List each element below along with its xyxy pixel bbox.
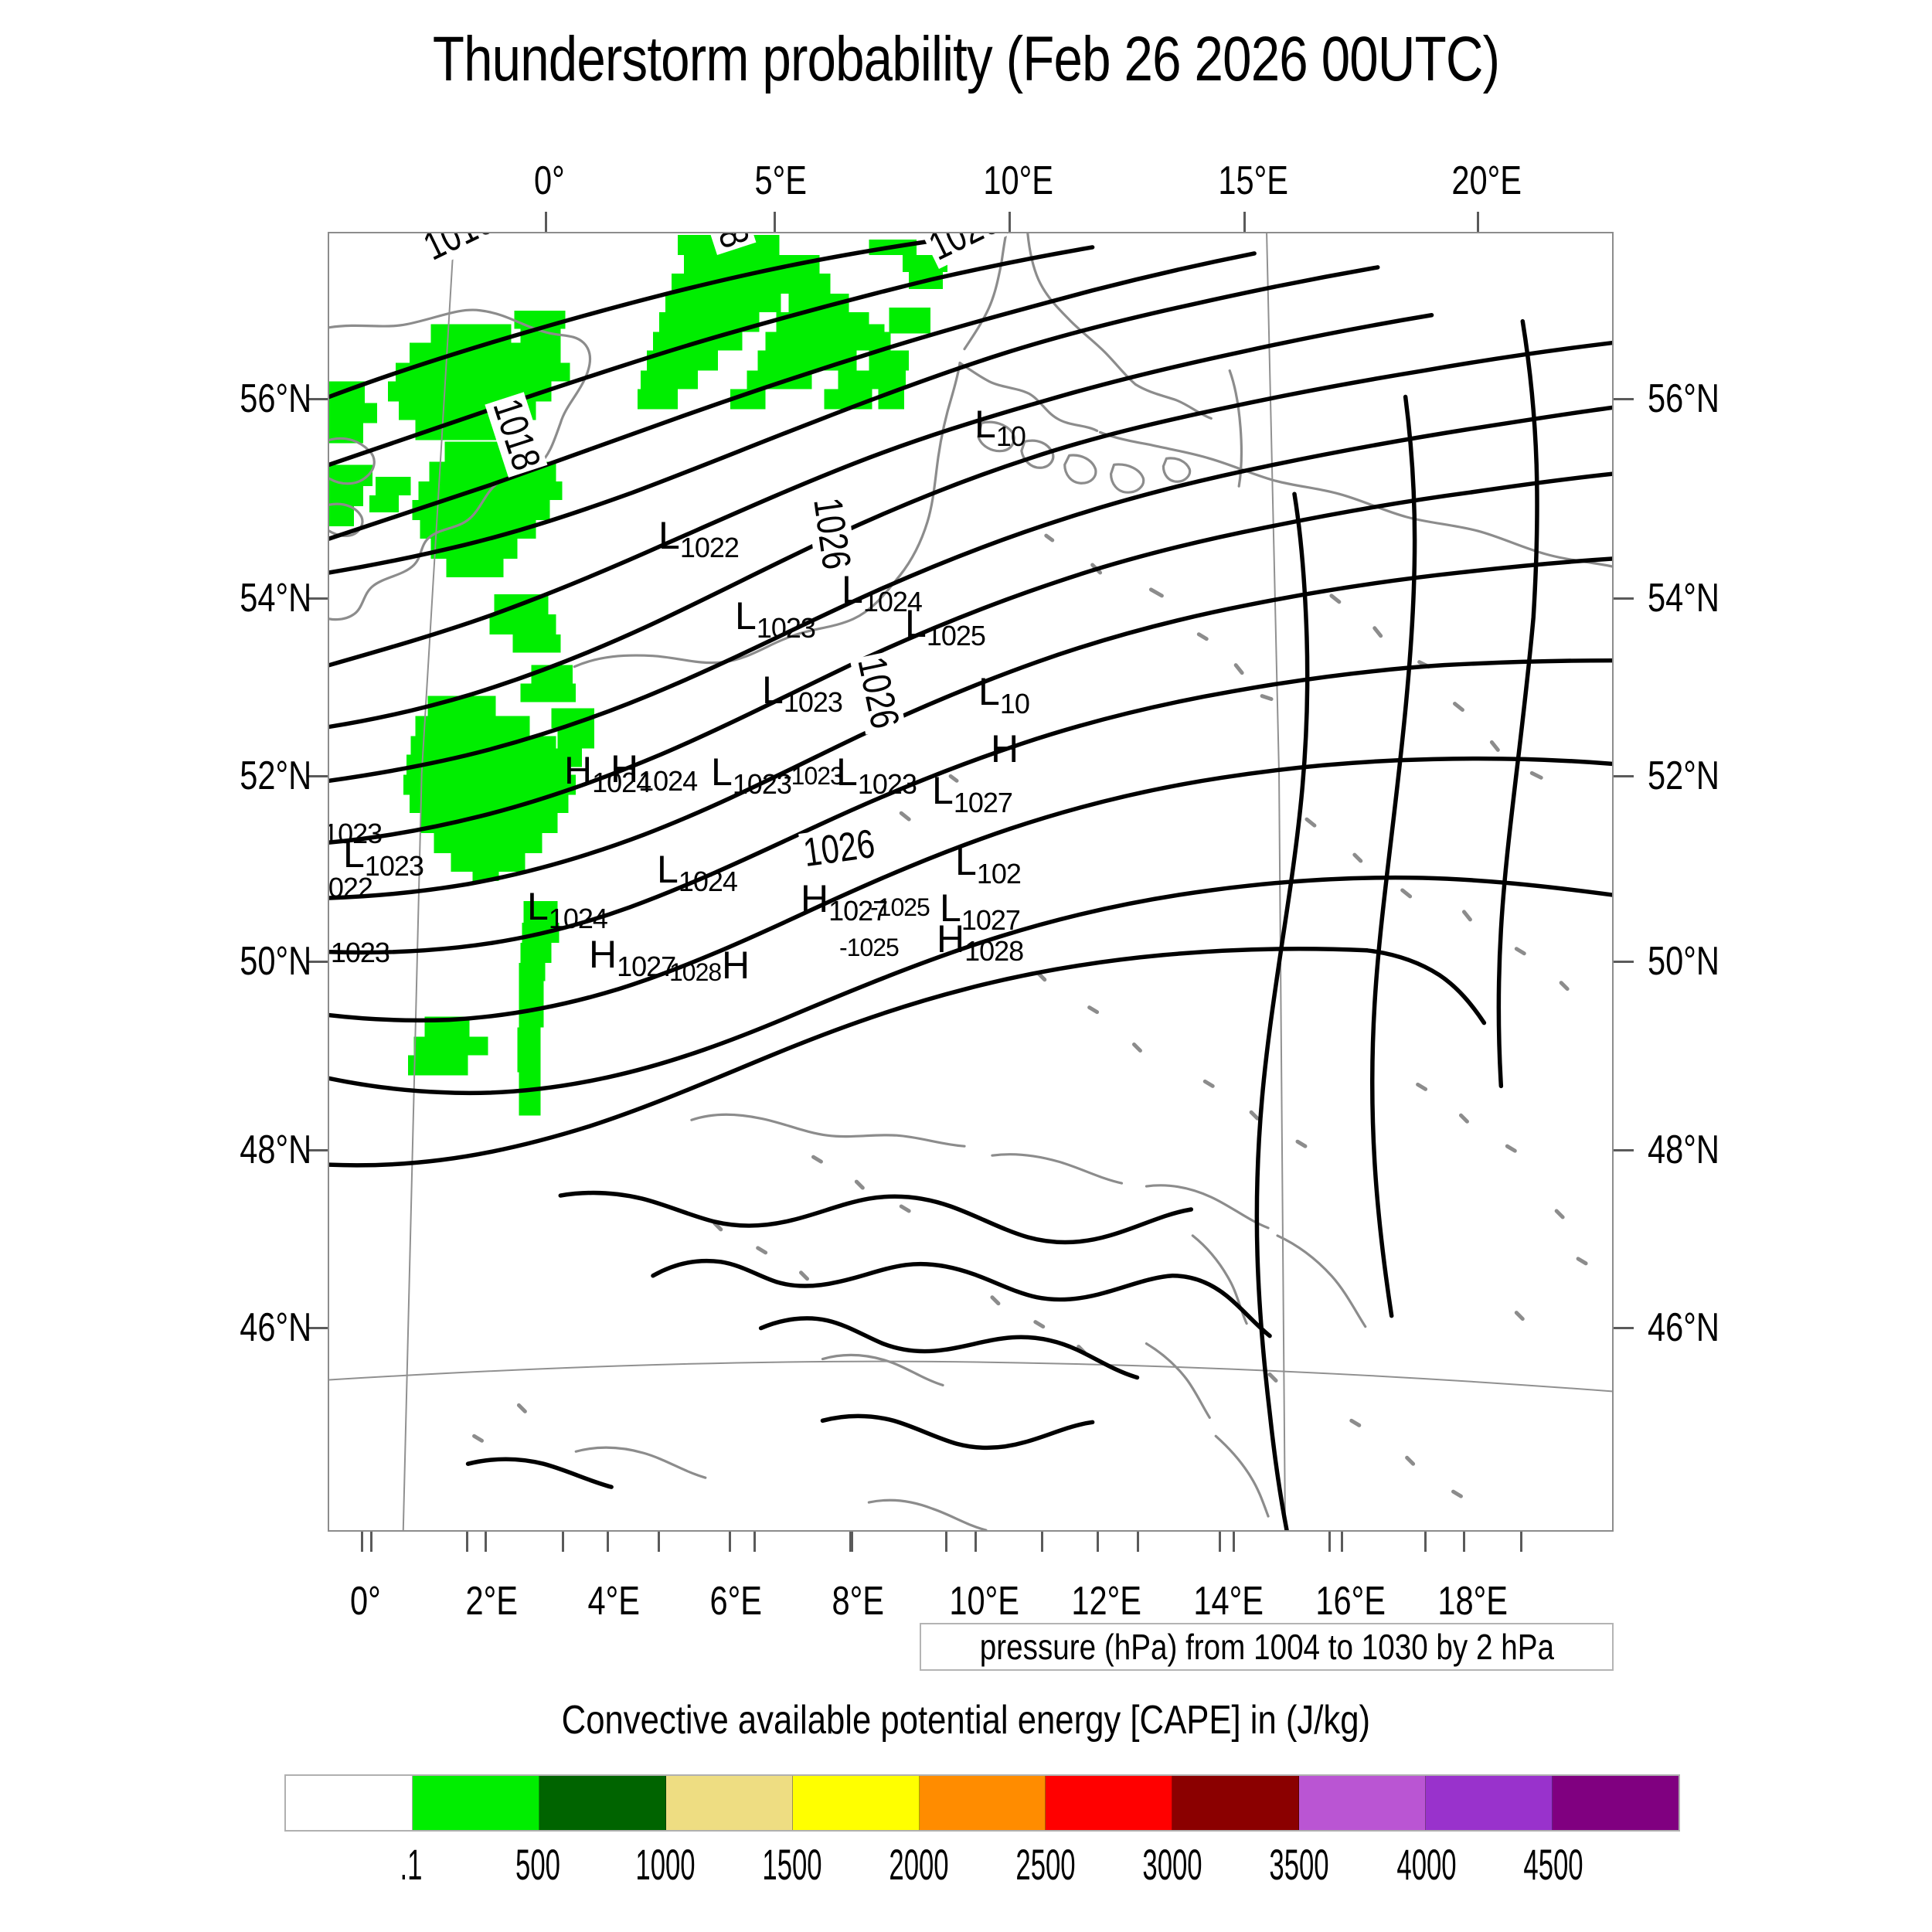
lon-label-bottom-0°: 0° xyxy=(350,1578,381,1624)
lat-label-right-52°N: 52°N xyxy=(1648,753,1719,799)
pressure-center-H-east-edge: H xyxy=(991,730,1019,768)
lon-tick-bottom-1 xyxy=(466,1532,468,1552)
lon-tick-bottom-7 xyxy=(1041,1532,1043,1552)
pressure-center-L-1023-sw2: L1023 xyxy=(328,921,389,967)
lat-label-left-46°N: 46°N xyxy=(240,1304,311,1351)
lat-tick-right-0 xyxy=(1614,398,1634,400)
lon-tick-bot-2 xyxy=(607,1532,609,1552)
colorbar-segment-5[interactable] xyxy=(920,1776,1046,1830)
pressure-center-L-1024-east-edge: L10 xyxy=(978,672,1029,718)
pressure-center-L-1010-east: L10 xyxy=(975,405,1026,451)
pressure-center-L-1023-d: -1023 xyxy=(784,764,843,788)
lat-tick-right-4 xyxy=(1614,1149,1634,1151)
pressure-center-H-1027-c: H1027 xyxy=(589,935,675,981)
colorbar-segment-9[interactable] xyxy=(1426,1776,1553,1830)
lon-tick-bot-6 xyxy=(1097,1532,1099,1552)
lon-tick-bottom-6 xyxy=(945,1532,947,1552)
lat-tick-right-1 xyxy=(1614,597,1634,600)
lat-label-left-48°N: 48°N xyxy=(240,1127,311,1173)
lon-tick-top-1 xyxy=(774,212,776,232)
pressure-center-L-1025-a: L1025 xyxy=(905,604,985,650)
colorbar-tick-1500: 1500 xyxy=(762,1839,821,1889)
lon-tick-bot-1 xyxy=(485,1532,487,1552)
lon-tick-top-0 xyxy=(545,212,547,232)
lon-label-bottom-4°E: 4°E xyxy=(588,1578,641,1624)
lon-tick-bottom-10 xyxy=(1328,1532,1331,1552)
lon-label-top-5°E: 5°E xyxy=(755,158,808,204)
lat-label-right-48°N: 48°N xyxy=(1648,1127,1719,1173)
pressure-center-L-1024-d: L1024 xyxy=(527,887,607,933)
lon-tick-bot-7 xyxy=(1219,1532,1221,1552)
lon-label-bottom-6°E: 6°E xyxy=(710,1578,763,1624)
pressure-center-H-1028: H1028 xyxy=(937,920,1023,965)
colorbar-segment-6[interactable] xyxy=(1046,1776,1172,1830)
lat-tick-right-5 xyxy=(1614,1327,1634,1329)
lon-label-bottom-10°E: 10°E xyxy=(949,1578,1019,1624)
lat-label-right-46°N: 46°N xyxy=(1648,1304,1719,1351)
colorbar-tick-labels: .150010001500200025003000350040004500 xyxy=(284,1839,1680,1893)
lon-tick-top-3 xyxy=(1243,212,1246,232)
lon-tick-bot-4 xyxy=(851,1532,853,1552)
lon-label-bottom-14°E: 14°E xyxy=(1193,1578,1264,1624)
lat-label-left-54°N: 54°N xyxy=(240,575,311,621)
colorbar-tick-2000: 2000 xyxy=(889,1839,948,1889)
pressure-center-L-1025-c: -1025 xyxy=(839,935,899,960)
pressure-center-L-1027-a: L1027 xyxy=(932,771,1012,817)
pressure-center-L-1023-e: L1023 xyxy=(836,753,917,798)
pressure-legend-text: pressure (hPa) from 1004 to 1030 by 2 hP… xyxy=(979,1626,1553,1668)
pressure-center-H-1024-b: H1024 xyxy=(611,750,697,795)
colorbar-segment-1[interactable] xyxy=(413,1776,539,1830)
pressure-center-L-1023-c: L1023 xyxy=(711,753,791,798)
lon-tick-bottom-8 xyxy=(1137,1532,1139,1552)
lon-label-bottom-2°E: 2°E xyxy=(466,1578,519,1624)
lon-tick-top-2 xyxy=(1009,212,1011,232)
lon-tick-top-4 xyxy=(1477,212,1479,232)
lon-tick-bot-3 xyxy=(729,1532,731,1552)
lon-tick-bot-9 xyxy=(1463,1532,1465,1552)
lon-label-top-0°: 0° xyxy=(534,158,565,204)
contour-label-1026-south: 1026 xyxy=(798,823,879,874)
lon-label-top-10°E: 10°E xyxy=(983,158,1053,204)
lat-tick-right-2 xyxy=(1614,775,1634,777)
lon-label-bottom-16°E: 16°E xyxy=(1315,1578,1386,1624)
lon-tick-bottom-2 xyxy=(562,1532,564,1552)
colorbar-segment-7[interactable] xyxy=(1172,1776,1299,1830)
lon-tick-bottom-4 xyxy=(753,1532,756,1552)
colorbar-tick-1000: 1000 xyxy=(635,1839,695,1889)
lon-tick-bot-8 xyxy=(1341,1532,1343,1552)
pressure-center-H-bottom: H xyxy=(722,946,750,985)
lon-tick-bot-0 xyxy=(361,1532,363,1552)
pressure-center-L-1024-c: L1024 xyxy=(657,850,737,896)
colorbar-segment-4[interactable] xyxy=(793,1776,920,1830)
lat-label-left-52°N: 52°N xyxy=(240,753,311,799)
lon-label-top-15°E: 15°E xyxy=(1218,158,1288,204)
contour-label-1026-center: 1026 xyxy=(806,493,857,574)
colorbar-title: Convective available potential energy [C… xyxy=(0,1697,1932,1743)
lon-label-bottom-12°E: 12°E xyxy=(1071,1578,1141,1624)
lon-tick-bottom-9 xyxy=(1233,1532,1235,1552)
colorbar-tick-500: 500 xyxy=(515,1839,560,1889)
colorbar-tick-4000: 4000 xyxy=(1396,1839,1456,1889)
lon-label-bottom-8°E: 8°E xyxy=(832,1578,885,1624)
lon-label-bottom-18°E: 18°E xyxy=(1437,1578,1508,1624)
colorbar-segment-10[interactable] xyxy=(1553,1776,1679,1830)
pressure-center-L-1022-sw: L1022 xyxy=(328,856,372,902)
lon-tick-bottom-12 xyxy=(1520,1532,1522,1552)
lat-label-left-50°N: 50°N xyxy=(240,938,311,985)
colorbar-tick-2500: 2500 xyxy=(1015,1839,1075,1889)
pressure-center-L-102-e-edge: L102 xyxy=(955,842,1021,888)
lat-label-right-56°N: 56°N xyxy=(1648,376,1719,422)
lon-tick-bottom-3 xyxy=(658,1532,660,1552)
lat-label-right-54°N: 54°N xyxy=(1648,575,1719,621)
lon-tick-bot-5 xyxy=(975,1532,977,1552)
colorbar-segment-0[interactable] xyxy=(286,1776,413,1830)
pressure-legend-note: pressure (hPa) from 1004 to 1030 by 2 hP… xyxy=(920,1623,1614,1671)
pressure-center-label-clip-b: 1028 xyxy=(669,960,721,985)
lat-label-left-56°N: 56°N xyxy=(240,376,311,422)
pressure-center-L-1023-a: L1023 xyxy=(735,597,815,642)
colorbar-segment-8[interactable] xyxy=(1299,1776,1426,1830)
pressure-center-L-1022-n: L1022 xyxy=(658,516,739,562)
colorbar-segment-2[interactable] xyxy=(539,1776,666,1830)
colorbar-tick-.1: .1 xyxy=(400,1839,423,1889)
pressure-center-L-1025-b: -1025 xyxy=(870,895,930,920)
colorbar-tick-3500: 3500 xyxy=(1270,1839,1329,1889)
pressure-center-L-1023-b: L1023 xyxy=(762,671,842,716)
lat-tick-right-3 xyxy=(1614,961,1634,963)
cape-colorbar[interactable] xyxy=(284,1774,1680,1832)
colorbar-segment-3[interactable] xyxy=(666,1776,793,1830)
lon-tick-bottom-0 xyxy=(370,1532,372,1552)
lat-label-right-50°N: 50°N xyxy=(1648,938,1719,985)
lon-label-top-20°E: 20°E xyxy=(1451,158,1522,204)
map-plot-area[interactable]: 1010 1018 1018 1026 1026 1026 1026 L1022… xyxy=(328,232,1614,1532)
colorbar-tick-4500: 4500 xyxy=(1523,1839,1583,1889)
colorbar-tick-3000: 3000 xyxy=(1143,1839,1202,1889)
page-title: Thunderstorm probability (Feb 26 2026 00… xyxy=(174,23,1758,96)
lon-tick-bottom-11 xyxy=(1424,1532,1427,1552)
